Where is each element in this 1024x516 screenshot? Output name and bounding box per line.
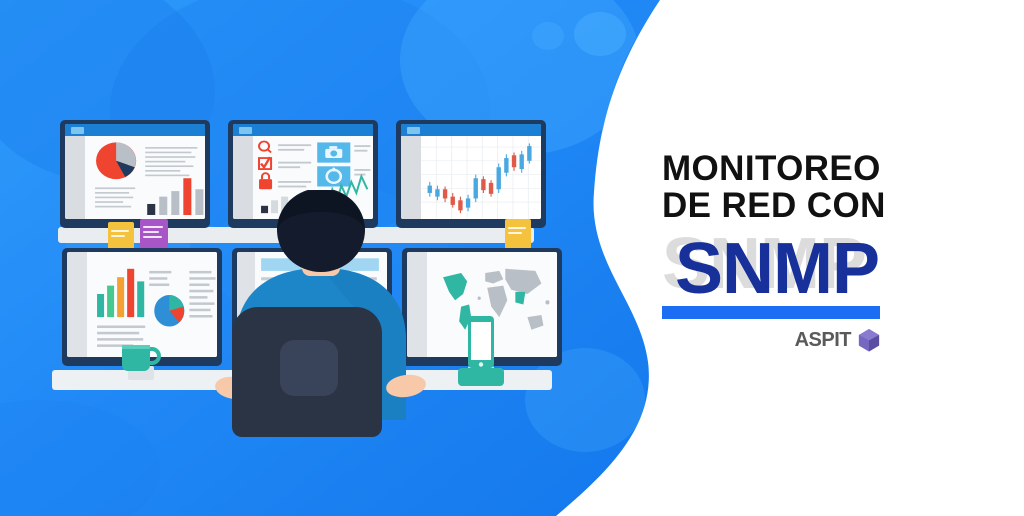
refresh-tile <box>317 167 350 187</box>
screen-logo-icon <box>239 127 252 134</box>
screen-logo-icon <box>71 127 84 134</box>
headline-line-1: MONITOREO <box>662 150 1002 187</box>
brand-logo: ASPIT <box>662 328 880 352</box>
bar-chart <box>147 179 203 216</box>
search-icon <box>259 142 271 153</box>
keyword-block: SNMP SNMP <box>662 228 1002 302</box>
bar-chart <box>97 269 144 317</box>
screen-logo-icon <box>407 127 420 134</box>
chair-lumbar-pad <box>280 340 338 396</box>
chart-grid <box>421 136 541 219</box>
candles <box>427 144 531 214</box>
keyword-text: SNMP <box>675 233 879 305</box>
dashboard-pie-and-bars <box>85 136 205 219</box>
monitor-top-left[interactable] <box>60 120 210 228</box>
screen-topbar <box>65 124 205 136</box>
text-lines-block-3 <box>354 146 370 176</box>
text-lines-block <box>278 145 311 188</box>
headline-line-2: DE RED CON <box>662 187 1002 224</box>
camera-tile <box>317 143 350 163</box>
screen-canvas <box>421 136 541 219</box>
screen-topbar <box>233 124 373 136</box>
screen-canvas <box>85 136 205 219</box>
text-lines-block <box>149 271 171 286</box>
screen-topbar <box>401 124 541 136</box>
screen-sidebar <box>65 136 85 219</box>
banner-canvas: MONITOREO DE RED CON SNMP SNMP ASPIT <box>0 0 1024 516</box>
brand-wordmark: ASPIT <box>795 329 851 352</box>
candlestick-chart <box>421 136 541 219</box>
screen-sidebar <box>67 252 87 357</box>
check-icon <box>259 157 271 169</box>
lock-icon <box>259 174 272 190</box>
pie-chart <box>96 143 136 180</box>
coffee-mug[interactable] <box>118 333 162 377</box>
text-lines-block <box>145 147 197 176</box>
sticky-note-yellow-right[interactable] <box>505 219 531 249</box>
headline-panel: MONITOREO DE RED CON SNMP SNMP ASPIT <box>662 150 1002 352</box>
text-lines-block-2 <box>95 188 135 208</box>
pie-chart <box>154 295 184 327</box>
monitor-screen <box>65 124 205 219</box>
smartphone-dock[interactable] <box>458 316 504 388</box>
hexagon-cube-icon <box>858 328 880 352</box>
